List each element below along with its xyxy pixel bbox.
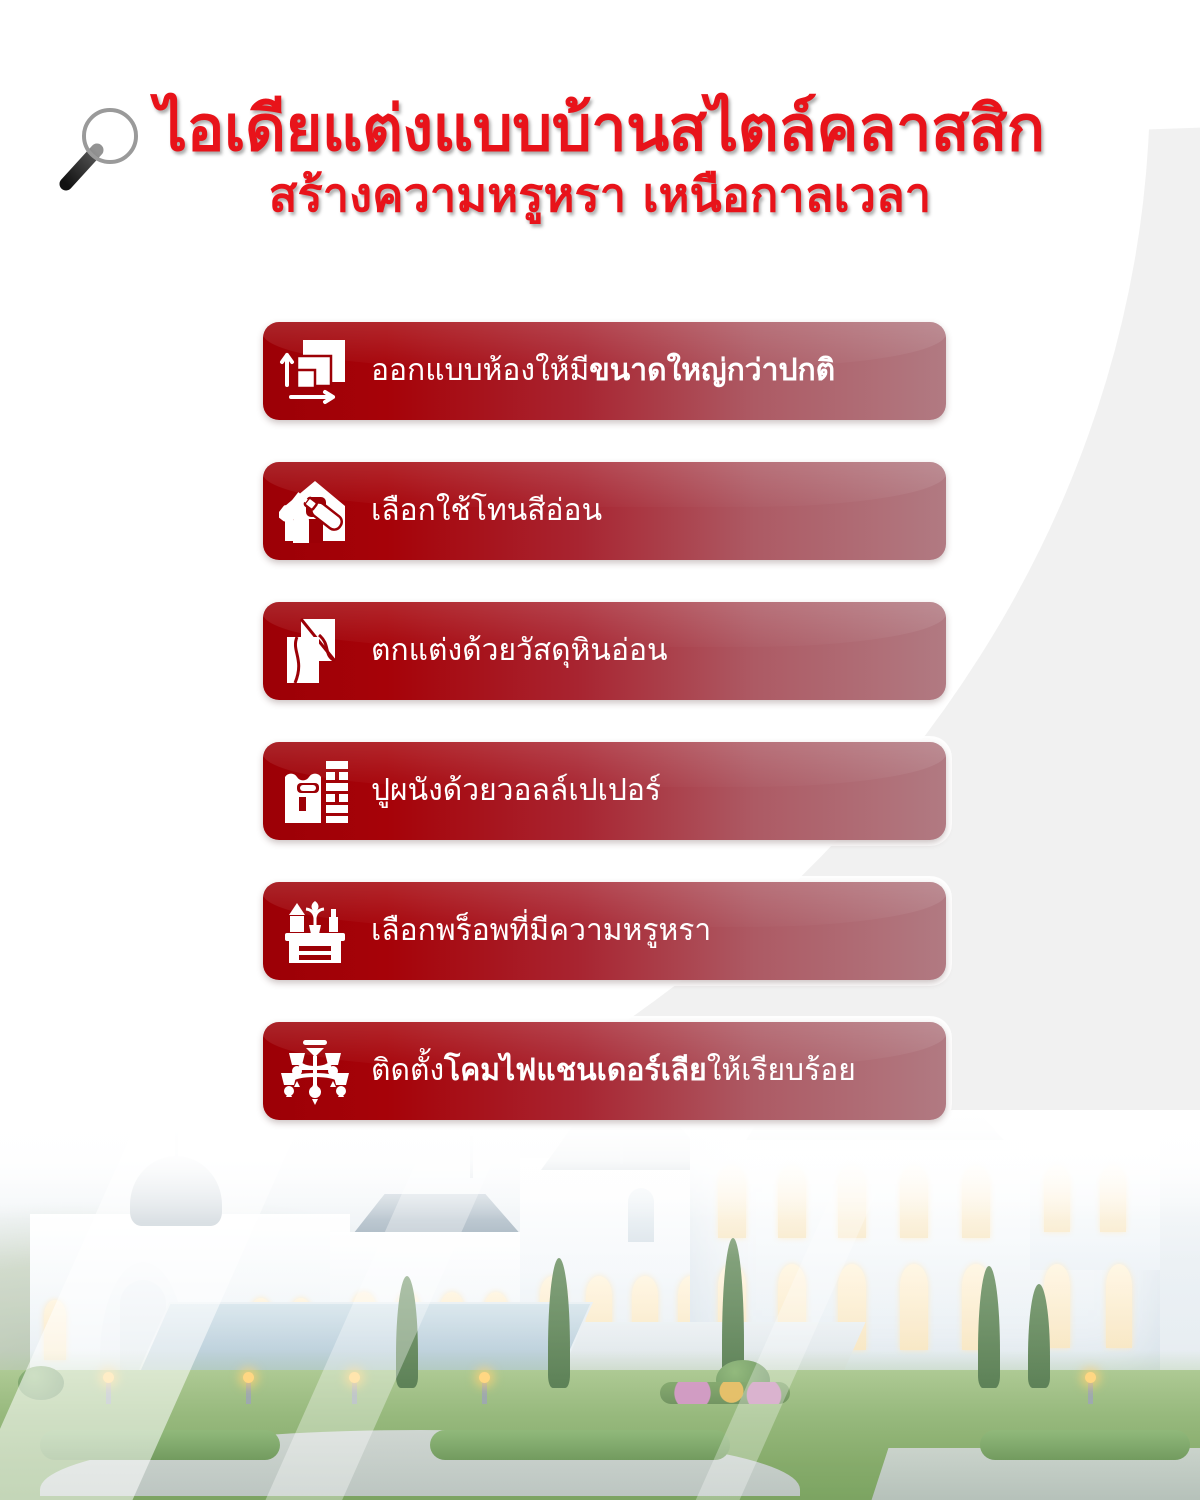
tip-bar-3[interactable]: ตกแต่งด้วยวัสดุหินอ่อน: [263, 602, 946, 700]
tip-text-1-regular: ออกแบบห้องให้มี: [371, 353, 589, 388]
tip-text-4: ปูผนังด้วยวอลล์เปเปอร์: [367, 773, 661, 809]
tip-text-1-bold: ขนาดใหญ่กว่าปกติ: [589, 353, 835, 388]
tip-text-2: เลือกใช้โทนสีอ่อน: [367, 493, 602, 529]
chandelier-icon: [263, 1022, 367, 1120]
marble-slab-icon: [263, 602, 367, 700]
resize-room-icon: [263, 322, 367, 420]
page-subtitle: สร้างความหรูหรา เหนือกาลเวลา: [0, 168, 1200, 224]
tips-list: ออกแบบห้องให้มีขนาดใหญ่กว่าปกติ: [263, 322, 946, 1162]
tip-text-4-regular: ปูผนังด้วยวอลล์เปเปอร์: [371, 773, 661, 808]
tip-bar-6[interactable]: ติดตั้งโคมไฟแชนเดอร์เลียให้เรียบร้อย: [263, 1022, 946, 1120]
tip-text-6-bold: โคมไฟแชนเดอร์เลีย: [444, 1053, 707, 1088]
wallpaper-roller-icon: [263, 742, 367, 840]
tip-text-6-regular-1: ติดตั้ง: [371, 1053, 444, 1088]
tip-bar-1[interactable]: ออกแบบห้องให้มีขนาดใหญ่กว่าปกติ: [263, 322, 946, 420]
infographic-poster: ไอเดียแต่งแบบบ้านสไตล์คลาสสิก สร้างความห…: [0, 0, 1200, 1500]
tip-bar-2[interactable]: เลือกใช้โทนสีอ่อน: [263, 462, 946, 560]
console-table-props-icon: [263, 882, 367, 980]
poster-header: ไอเดียแต่งแบบบ้านสไตล์คลาสสิก สร้างความห…: [0, 92, 1200, 224]
page-title: ไอเดียแต่งแบบบ้านสไตล์คลาสสิก: [0, 92, 1200, 166]
tip-bar-5[interactable]: เลือกพร็อพที่มีความหรูหรา: [263, 882, 946, 980]
tip-text-3-regular: ตกแต่งด้วยวัสดุหินอ่อน: [371, 633, 667, 668]
tip-text-3: ตกแต่งด้วยวัสดุหินอ่อน: [367, 633, 667, 669]
tip-text-5: เลือกพร็อพที่มีความหรูหรา: [367, 913, 711, 949]
tip-bar-4[interactable]: ปูผนังด้วยวอลล์เปเปอร์: [263, 742, 946, 840]
tip-text-5-regular: เลือกพร็อพที่มีความหรูหรา: [371, 913, 711, 948]
house-paint-roller-icon: [263, 462, 367, 560]
tip-text-6-regular-2: ให้เรียบร้อย: [707, 1053, 856, 1088]
tip-text-1: ออกแบบห้องให้มีขนาดใหญ่กว่าปกติ: [367, 353, 835, 389]
tip-text-2-regular: เลือกใช้โทนสีอ่อน: [371, 493, 602, 528]
tip-text-6: ติดตั้งโคมไฟแชนเดอร์เลียให้เรียบร้อย: [367, 1053, 856, 1089]
